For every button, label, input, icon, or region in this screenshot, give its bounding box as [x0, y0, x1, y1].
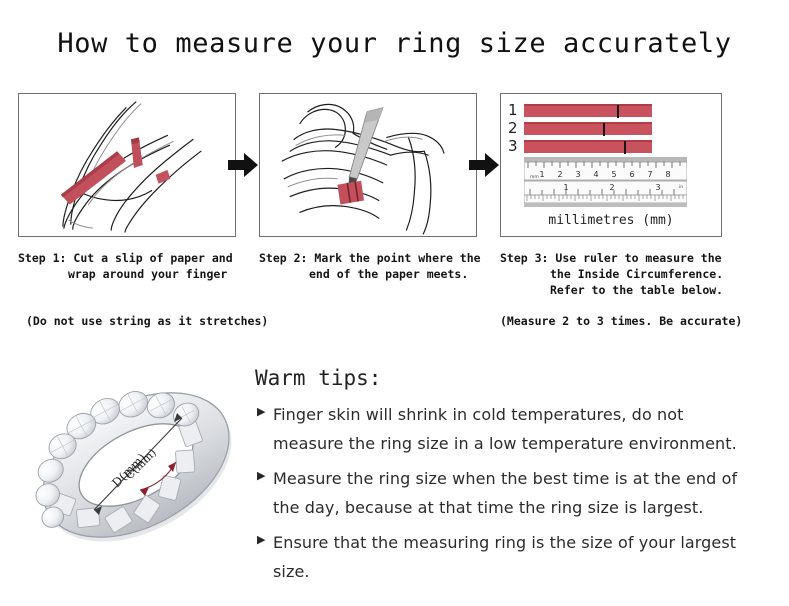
strip-mark [624, 141, 626, 154]
warm-tip-item: ▶ Ensure that the measuring ring is the … [257, 528, 757, 586]
step-1-illustration-panel [18, 93, 236, 237]
paper-strip-marked [337, 181, 364, 205]
svg-text:6: 6 [629, 170, 634, 179]
bullet-triangle-icon: ▶ [257, 528, 273, 586]
step-1-line-1: Cut a slip of paper and [73, 251, 232, 265]
step-2-caption: Step 2: Mark the point where the end of … [259, 250, 491, 282]
svg-text:8: 8 [665, 170, 670, 179]
hand-paper-strip-drawing [19, 94, 235, 236]
bullet-triangle-icon: ▶ [257, 400, 273, 458]
step-2-line-2: end of the paper meets. [259, 266, 491, 282]
step-2-illustration-panel [259, 93, 477, 237]
step-3-line-3: Refer to the table below. [500, 282, 750, 298]
ruler-unit-label: millimetres (mm) [500, 213, 722, 228]
strip-number: 1 [508, 103, 524, 118]
paper-strip-red [61, 151, 126, 204]
paper-strip-sample [524, 140, 652, 153]
svg-text:2: 2 [609, 183, 614, 192]
bullet-triangle-icon: ▶ [257, 464, 273, 522]
svg-text:1: 1 [539, 170, 544, 179]
warm-tip-text: Ensure that the measuring ring is the si… [273, 528, 757, 586]
step-1-line-2: wrap around your finger [18, 266, 250, 282]
paper-strip-sample [524, 104, 652, 117]
svg-text:3: 3 [655, 183, 660, 192]
paper-strip-wrapped [131, 137, 170, 183]
step-1-caption: Step 1: Cut a slip of paper and wrap aro… [18, 250, 250, 282]
warm-tip-item: ▶ Measure the ring size when the best ti… [257, 464, 757, 522]
svg-text:in: in [679, 184, 683, 190]
warm-tips-list: ▶ Finger skin will shrink in cold temper… [257, 400, 757, 592]
inside-circumference-emphasis: Inside Circumference [578, 267, 716, 281]
pen [348, 108, 383, 189]
eternity-ring-illustration: D(mm) C(mm) [22, 352, 250, 578]
svg-text:2: 2 [557, 170, 562, 179]
hand-pen-marking-drawing [260, 94, 476, 236]
svg-text:mm: mm [530, 175, 539, 180]
strip-number: 3 [508, 139, 524, 154]
ruler-illustration: 123 456 78 mm 123 in [524, 157, 687, 207]
svg-text:1: 1 [563, 183, 568, 192]
step-3-line-2-pre: the [550, 267, 578, 281]
step-3-line-1: Use ruler to measure the [555, 251, 721, 265]
measured-strip-row: 2 [508, 121, 652, 136]
step-2-line-1: Mark the point where the [314, 251, 480, 265]
step-3-caption: Step 3: Use ruler to measure the the Ins… [500, 250, 750, 298]
warm-tip-text: Finger skin will shrink in cold temperat… [273, 400, 757, 458]
paper-strip-sample [524, 122, 652, 135]
warm-tips-heading: Warm tips: [255, 366, 381, 390]
step-1-note: (Do not use string as it stretches) [26, 314, 268, 328]
strip-mark [603, 123, 605, 136]
strip-number: 2 [508, 121, 524, 136]
measured-strip-row: 1 [508, 103, 652, 118]
svg-text:7: 7 [647, 170, 652, 179]
step-1-label: Step 1: [18, 251, 66, 265]
step-3-line-2-post: . [716, 267, 723, 281]
warm-tip-item: ▶ Finger skin will shrink in cold temper… [257, 400, 757, 458]
step-3-note: (Measure 2 to 3 times. Be accurate) [500, 314, 742, 328]
svg-text:5: 5 [611, 170, 616, 179]
step-2-label: Step 2: [259, 251, 307, 265]
step-3-label: Step 3: [500, 251, 548, 265]
measured-strip-row: 3 [508, 139, 652, 154]
arrow-step2-to-step3 [469, 151, 499, 179]
svg-text:4: 4 [593, 170, 598, 179]
warm-tip-text: Measure the ring size when the best time… [273, 464, 757, 522]
ring-diagram: D(mm) C(mm) [22, 352, 250, 578]
page-title: How to measure your ring size accurately [0, 28, 789, 59]
arrow-step1-to-step2 [228, 151, 258, 179]
step-3-line-2: the Inside Circumference. [500, 266, 750, 282]
svg-text:3: 3 [575, 170, 580, 179]
strip-mark [617, 105, 619, 118]
